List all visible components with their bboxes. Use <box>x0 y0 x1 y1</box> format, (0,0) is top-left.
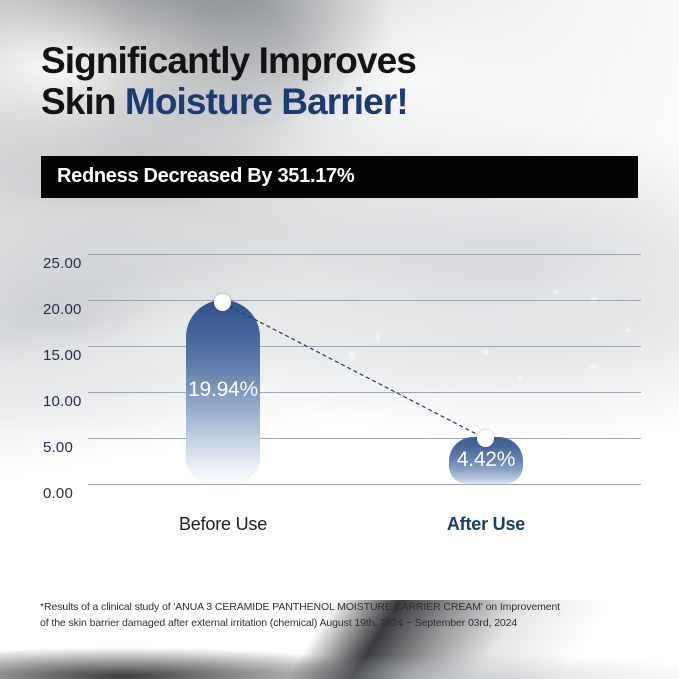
data-point-marker-before-use <box>214 294 231 311</box>
banner-label: Redness Decreased By 351.17% <box>57 165 354 188</box>
footnote-line-2: of the skin barrier damaged after extern… <box>40 616 648 632</box>
data-point-marker-after-use <box>477 430 494 447</box>
headline-line-2-accent: Moisture Barrier! <box>125 81 408 122</box>
headline-line-1: Significantly Improves <box>41 40 641 81</box>
promotional-chart-graphic: Significantly Improves Skin Moisture Bar… <box>0 0 679 679</box>
page-title: Significantly Improves Skin Moisture Bar… <box>41 40 641 122</box>
headline-line-2-plain: Skin <box>41 81 125 122</box>
footnote-line-1: *Results of a clinical study of 'ANUA 3 … <box>40 600 648 616</box>
footnote: *Results of a clinical study of 'ANUA 3 … <box>40 600 648 631</box>
status-badge: Redness Decreased By 351.17% <box>41 156 638 198</box>
headline-line-2: Skin Moisture Barrier! <box>41 81 641 122</box>
